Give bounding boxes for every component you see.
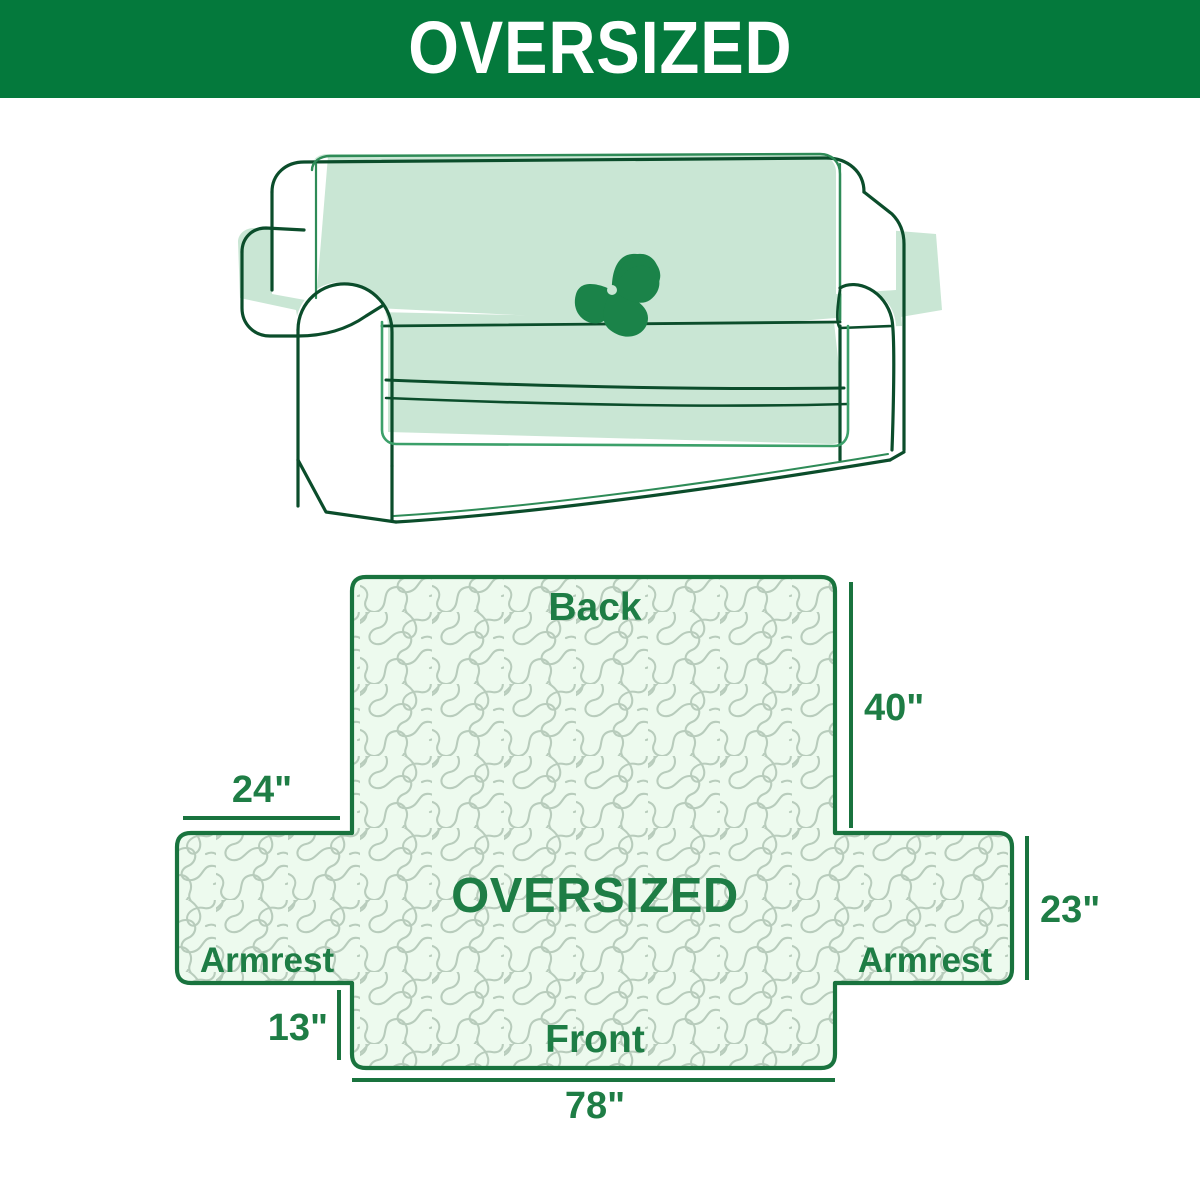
page-root: OVERSIZED	[0, 0, 1200, 1200]
sofa-illustration	[236, 130, 996, 530]
dimension-label-78: 78"	[565, 1085, 625, 1127]
cover-shape	[177, 577, 1012, 1068]
label-back: Back	[548, 586, 642, 629]
dimension-label-13: 13"	[268, 1007, 328, 1049]
label-front: Front	[545, 1018, 645, 1061]
label-center-oversized: OVERSIZED	[451, 869, 739, 923]
header-banner: OVERSIZED	[0, 0, 1200, 98]
flat-layout-diagram: Back OVERSIZED Armrest Armrest Front 40"…	[0, 540, 1200, 1140]
dimension-label-24: 24"	[232, 769, 292, 811]
dimension-label-23: 23"	[1040, 889, 1100, 931]
label-armrest-left: Armrest	[200, 941, 335, 980]
label-armrest-right: Armrest	[858, 941, 993, 980]
dimension-label-40: 40"	[864, 687, 924, 729]
banner-title: OVERSIZED	[408, 11, 792, 85]
